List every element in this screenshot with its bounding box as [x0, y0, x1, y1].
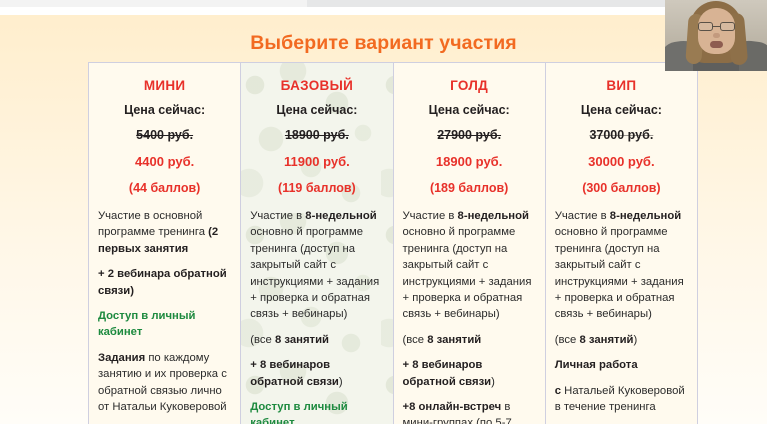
price-label: Цена сейчас: — [98, 103, 231, 117]
price-old: 27900 руб. — [403, 128, 536, 142]
feature-item: + 8 вебинаров обратной связи) — [403, 357, 536, 390]
feature-item: Участие в 8-недельной основно й программ… — [250, 208, 383, 323]
price-points-badge: (119 баллов) — [250, 181, 383, 195]
feature-item: Участие в основной программе тренинга (2… — [98, 208, 231, 257]
feature-text: основно й программе тренинга (доступ на … — [555, 226, 684, 320]
feature-text: + 8 вебинаров обратной связи — [250, 359, 339, 387]
feature-item: (все 8 занятий — [403, 332, 536, 348]
browser-content-top-edge — [0, 7, 767, 15]
plan-column-1[interactable]: МИНИЦена сейчас:5400 руб.4400 руб.(44 ба… — [89, 63, 241, 424]
plan-name: МИНИ — [98, 78, 231, 93]
glasses-bridge — [713, 26, 720, 27]
feature-list: Участие в 8-недельной основно й программ… — [555, 208, 688, 424]
price-new: 18900 руб. — [403, 154, 536, 169]
feature-text: 8 занятий — [275, 334, 329, 346]
feature-item: Участие в 8-недельной основно й программ… — [403, 208, 536, 323]
feature-item: Доступ в личный кабинет — [250, 399, 383, 424]
feature-text: Натальей Куковеровой в течение тренинга — [555, 385, 685, 413]
feature-text: с — [555, 385, 564, 397]
feature-list: Участие в основной программе тренинга (2… — [98, 208, 231, 424]
feature-item: Личная работа — [555, 357, 688, 373]
price-label: Цена сейчас: — [555, 103, 688, 117]
pricing-table: МИНИЦена сейчас:5400 руб.4400 руб.(44 ба… — [88, 62, 698, 424]
presenter-nose — [713, 33, 720, 38]
plan-name: ВИП — [555, 78, 688, 93]
feature-item: + 2 вебинара обратной связи) — [98, 266, 231, 299]
price-new: 11900 руб. — [250, 154, 383, 169]
feature-text: 8-недельной — [458, 210, 529, 222]
feature-text: Участие в — [555, 210, 610, 222]
feature-text: ) — [339, 376, 343, 388]
feature-text: Участие в основной программе тренинга — [98, 210, 208, 238]
feature-text: Личная работа — [555, 359, 638, 371]
price-old: 5400 руб. — [98, 128, 231, 142]
price-points-badge: (44 баллов) — [98, 181, 231, 195]
feature-item: + 8 вебинаров обратной связи) — [250, 357, 383, 390]
page-title: Выберите вариант участия — [0, 32, 767, 55]
feature-text: Участие в — [250, 210, 305, 222]
glasses-lens-right — [720, 22, 735, 31]
feature-text: (все — [250, 334, 275, 346]
price-old: 37000 руб. — [555, 128, 688, 142]
feature-text: основно й программе тренинга (доступ на … — [250, 226, 379, 320]
feature-text: +8 онлайн-встреч — [403, 401, 505, 413]
price-points-badge: (189 баллов) — [403, 181, 536, 195]
feature-text: + 8 вебинаров обратной связи — [403, 359, 492, 387]
feature-list: Участие в 8-недельной основно й программ… — [250, 208, 383, 424]
feature-item: Задания по каждому занятию и их проверка… — [98, 350, 231, 416]
price-new: 30000 руб. — [555, 154, 688, 169]
price-new: 4400 руб. — [98, 154, 231, 169]
feature-text: ) — [633, 334, 637, 346]
feature-item: (все 8 занятий — [250, 332, 383, 348]
feature-text: Задания — [98, 352, 148, 364]
presenter-mouth — [710, 41, 723, 48]
price-points-badge: (300 баллов) — [555, 181, 688, 195]
feature-text: Доступ в личный кабинет — [250, 401, 347, 424]
feature-text: Участие в — [403, 210, 458, 222]
feature-text: 8-недельной — [305, 210, 376, 222]
feature-item: +8 онлайн-встреч в мини-группах (по 5-7 … — [403, 399, 536, 424]
feature-item: Участие в 8-недельной основно й программ… — [555, 208, 688, 323]
feature-text: Доступ в личный кабинет — [98, 310, 195, 338]
feature-item: с Натальей Куковеровой в течение тренинг… — [555, 383, 688, 416]
plan-column-3[interactable]: ГОЛДЦена сейчас:27900 руб.18900 руб.(189… — [394, 63, 546, 424]
feature-text: (все — [403, 334, 428, 346]
plan-column-2[interactable]: БАЗОВЫЙЦена сейчас:18900 руб.11900 руб.(… — [241, 63, 393, 424]
feature-item: (все 8 занятий) — [555, 332, 688, 348]
glasses-lens-left — [698, 22, 713, 31]
feature-list: Участие в 8-недельной основно й программ… — [403, 208, 536, 424]
feature-text: + 2 вебинара обратной связи) — [98, 268, 227, 296]
price-label: Цена сейчас: — [250, 103, 383, 117]
feature-text: (все — [555, 334, 580, 346]
presenter-webcam-overlay[interactable] — [665, 0, 767, 71]
plan-column-4[interactable]: ВИПЦена сейчас:37000 руб.30000 руб.(300 … — [546, 63, 698, 424]
plan-name: БАЗОВЫЙ — [250, 78, 383, 93]
feature-text: 8 занятий — [427, 334, 481, 346]
feature-text: 8-недельной — [610, 210, 681, 222]
feature-text: 8 занятий — [579, 334, 633, 346]
feature-text: основно й программе тренинга (доступ на … — [403, 226, 532, 320]
glasses-icon — [697, 22, 736, 31]
presentation-slide: Выберите вариант участия МИНИЦена сейчас… — [0, 15, 767, 424]
plan-name: ГОЛД — [403, 78, 536, 93]
price-old: 18900 руб. — [250, 128, 383, 142]
price-label: Цена сейчас: — [403, 103, 536, 117]
feature-text: ) — [491, 376, 495, 388]
feature-item: Доступ в личный кабинет — [98, 308, 231, 341]
browser-top-chrome — [0, 0, 767, 7]
